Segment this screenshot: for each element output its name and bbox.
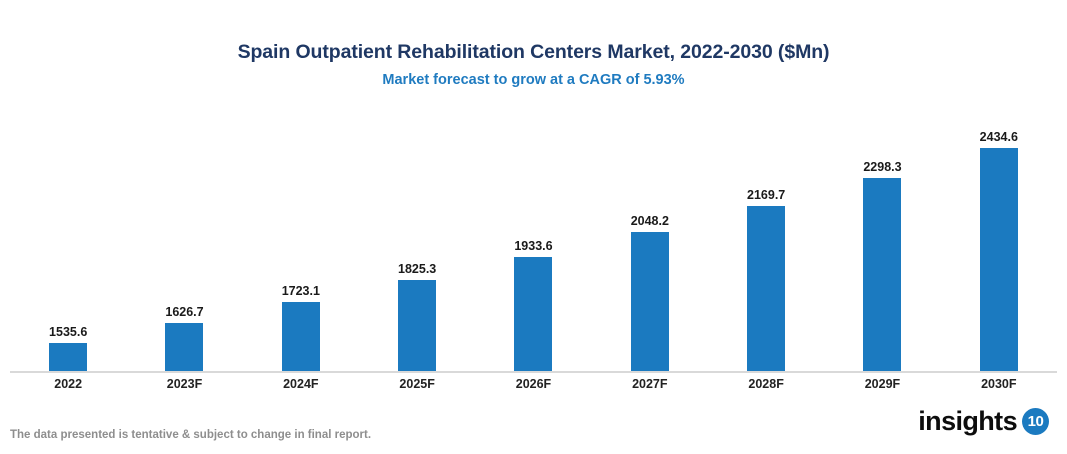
bar-group[interactable]: 1723.1	[243, 110, 359, 372]
x-axis-tick-label: 2025F	[359, 376, 475, 392]
x-axis-tick-label: 2026F	[475, 376, 591, 392]
x-axis-tick-label: 2030F	[941, 376, 1057, 392]
bar-series: 1535.61626.71723.11825.31933.62048.22169…	[10, 110, 1057, 372]
bar-group[interactable]: 1933.6	[475, 110, 591, 372]
disclaimer-text: The data presented is tentative & subjec…	[10, 428, 371, 442]
bar-group[interactable]: 2298.3	[824, 110, 940, 372]
x-axis-tick-label: 2023F	[126, 376, 242, 392]
x-axis-tick-label: 2022	[10, 376, 126, 392]
bar-value-label: 1535.6	[10, 325, 126, 339]
bar[interactable]	[165, 323, 203, 372]
bar-value-label: 1626.7	[126, 305, 242, 319]
bar[interactable]	[49, 343, 87, 372]
chart-header: Spain Outpatient Rehabilitation Centers …	[0, 40, 1067, 89]
x-axis-line	[10, 371, 1057, 373]
insights10-logo: insights 10	[918, 406, 1049, 436]
x-axis-tick-label: 2029F	[824, 376, 940, 392]
bar-value-label: 2434.6	[941, 130, 1057, 144]
bar-group[interactable]: 2169.7	[708, 110, 824, 372]
bar-value-label: 1723.1	[243, 284, 359, 298]
bar-group[interactable]: 2434.6	[941, 110, 1057, 372]
plot-area: 1535.61626.71723.11825.31933.62048.22169…	[10, 110, 1057, 373]
bar-value-label: 2048.2	[592, 214, 708, 228]
bar[interactable]	[514, 257, 552, 372]
bar[interactable]	[282, 302, 320, 372]
bar[interactable]	[398, 280, 436, 372]
bar-group[interactable]: 1825.3	[359, 110, 475, 372]
bar-value-label: 2298.3	[824, 160, 940, 174]
bar[interactable]	[747, 206, 785, 372]
bar[interactable]	[863, 178, 901, 372]
page-title: Spain Outpatient Rehabilitation Centers …	[0, 40, 1067, 64]
bar[interactable]	[631, 232, 669, 372]
bar-value-label: 2169.7	[708, 188, 824, 202]
logo-wordmark: insights	[918, 406, 1017, 436]
chart-subtitle: Market forecast to grow at a CAGR of 5.9…	[0, 71, 1067, 89]
bar-group[interactable]: 1535.6	[10, 110, 126, 372]
bar-group[interactable]: 1626.7	[126, 110, 242, 372]
bar-group[interactable]: 2048.2	[592, 110, 708, 372]
x-axis-labels: 20222023F2024F2025F2026F2027F2028F2029F2…	[10, 376, 1057, 392]
bar-value-label: 1825.3	[359, 262, 475, 276]
x-axis-tick-label: 2024F	[243, 376, 359, 392]
x-axis-tick-label: 2028F	[708, 376, 824, 392]
chart-page: Spain Outpatient Rehabilitation Centers …	[0, 0, 1067, 454]
bar-value-label: 1933.6	[475, 239, 591, 253]
bar[interactable]	[980, 148, 1018, 372]
x-axis-tick-label: 2027F	[592, 376, 708, 392]
logo-badge-icon: 10	[1022, 408, 1049, 435]
